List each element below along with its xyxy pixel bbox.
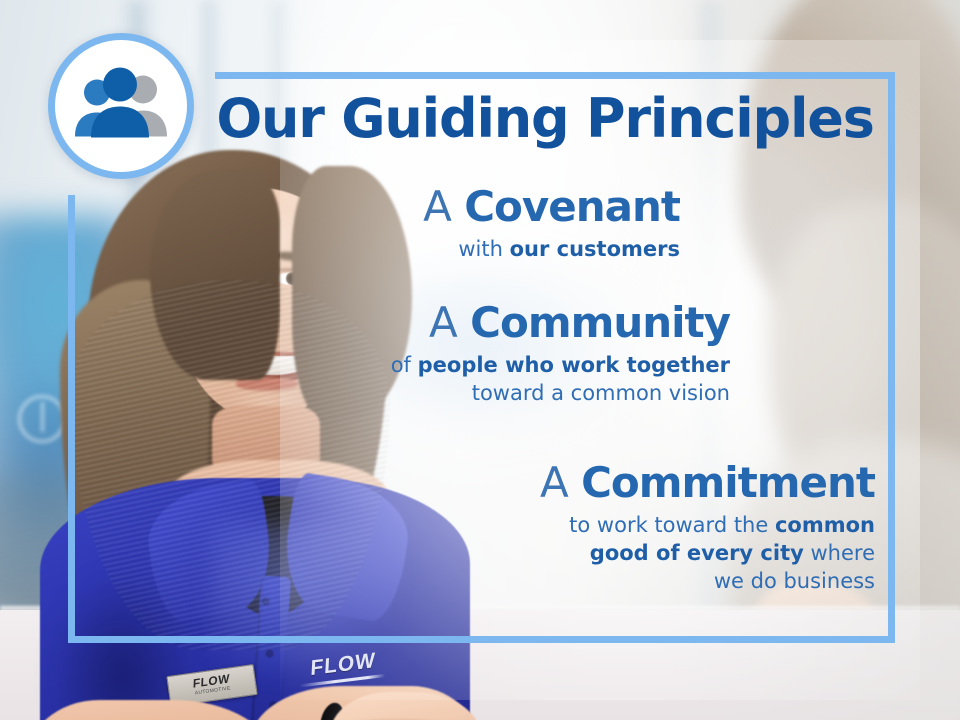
principle-covenant-lead: A Covenant: [300, 186, 680, 229]
principle-covenant: A Covenant with our customers: [300, 186, 680, 263]
principle-community: A Community of people who work together …: [330, 302, 730, 407]
subtext-bold-2: good of every city: [590, 541, 804, 565]
principle-commitment-lead: A Commitment: [380, 462, 875, 505]
subtext-plain: of: [391, 353, 418, 377]
people-icon-badge: [48, 33, 194, 179]
page-title: Our Guiding Principles: [215, 92, 875, 146]
article-text: A: [423, 182, 451, 231]
subtext-plain-2: where: [804, 541, 875, 565]
principle-covenant-subtext: with our customers: [300, 235, 680, 263]
subtext-plain-2: toward a common vision: [472, 381, 730, 405]
people-group-icon: [69, 67, 173, 146]
subtext-bold: common: [775, 513, 875, 537]
article-text: A: [540, 458, 568, 507]
guiding-principles-graphic: FLOW FLOW AUTOMOTIVE: [0, 0, 960, 720]
principle-commitment: A Commitment to work toward the common g…: [380, 462, 875, 595]
subtext-bold: people who work together: [418, 353, 730, 377]
subtext-plain: with: [458, 237, 509, 261]
principle-community-lead: A Community: [330, 302, 730, 345]
keyword-text: Community: [470, 298, 730, 347]
principle-community-subtext: of people who work together toward a com…: [330, 351, 730, 407]
subtext-bold: our customers: [510, 237, 680, 261]
subtext-plain: to work toward the: [569, 513, 775, 537]
keyword-text: Covenant: [464, 182, 680, 231]
subtext-plain-3: we do business: [714, 569, 875, 593]
article-text: A: [429, 298, 457, 347]
keyword-text: Commitment: [581, 458, 875, 507]
principle-commitment-subtext: to work toward the common good of every …: [380, 511, 875, 595]
